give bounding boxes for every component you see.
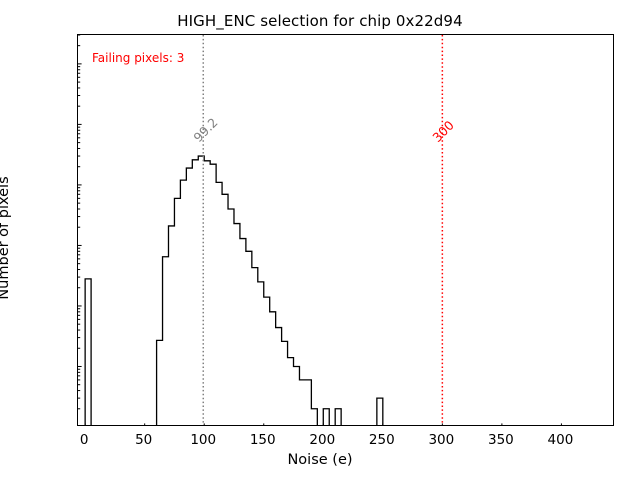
x-tick-label: 50	[135, 432, 152, 448]
plot-clip-region	[78, 35, 613, 425]
histogram-data-layer	[78, 35, 613, 425]
chart-title: HIGH_ENC selection for chip 0x22d94	[0, 12, 640, 30]
x-tick-label: 400	[548, 432, 574, 448]
plot-axes: Failing pixels: 3	[77, 34, 614, 426]
x-tick-label: 350	[488, 432, 514, 448]
x-tick-label: 250	[369, 432, 395, 448]
x-tick-label: 300	[428, 432, 454, 448]
matplotlib-figure: HIGH_ENC selection for chip 0x22d94 Fail…	[0, 0, 640, 480]
x-tick-label: 150	[250, 432, 276, 448]
x-axis-label: Noise (e)	[0, 452, 640, 468]
y-axis-label: Number of pixels	[0, 38, 12, 438]
x-tick-label: 0	[80, 432, 89, 448]
x-tick-label: 200	[309, 432, 335, 448]
x-tick-label: 100	[190, 432, 216, 448]
